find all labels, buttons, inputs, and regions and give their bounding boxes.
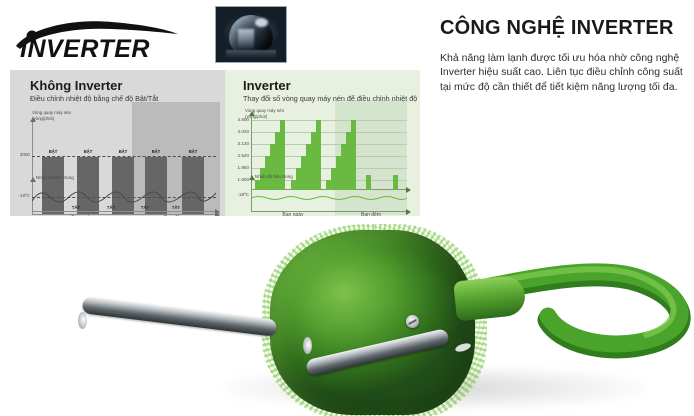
temp-x-axis-no-inverter — [32, 211, 216, 212]
temp-wave-inverter — [251, 188, 407, 210]
grass-plug-photo — [0, 216, 694, 416]
y-axis-label-no-inverter: Vòng quay máy nén (vòng/phút) — [32, 110, 102, 122]
temp-tick-inverter: -18ºC — [227, 192, 249, 197]
page-description: Khả năng làm lạnh được tối ưu hóa nhờ cô… — [440, 51, 690, 96]
temp-y-arrow-no-inverter — [30, 177, 36, 182]
chart-title-inverter: Inverter — [243, 78, 291, 93]
y-axis-arrow-inverter — [249, 111, 255, 116]
temp-y-arrow-inverter — [249, 175, 255, 180]
chart-title-no-inverter: Không Inverter — [30, 78, 122, 93]
temp-label-inverter: Nhiệt độ bên trong — [255, 174, 293, 180]
y-tick-3120: 3.120 — [227, 141, 249, 146]
gridline-4500 — [251, 120, 407, 121]
y-axis-label-inverter: Vòng quay máy nén (vòng/phút) — [245, 108, 315, 120]
plug-prong-upper-tip — [78, 312, 87, 329]
y-tick-3000: 3000 — [12, 152, 30, 157]
step-2-6 — [316, 120, 321, 190]
chart-panel-inverter: Inverter Thay đổi số vòng quay máy nén đ… — [225, 70, 420, 220]
temp-label-no-inverter: Nhiệt độ bên trong — [36, 175, 74, 181]
y-tick-2520: 2.520 — [227, 153, 249, 158]
plug-body — [270, 230, 475, 415]
chart-panel-no-inverter: Không Inverter Điều chỉnh nhiệt độ bằng … — [10, 70, 225, 220]
bar-label-on-3: BẬT — [112, 149, 134, 154]
bar-label-on-2: BẬT — [77, 149, 99, 154]
compressor-base — [226, 50, 276, 59]
step-3-6 — [351, 120, 356, 190]
y-tick-4500: 4.500 — [227, 117, 249, 122]
temp-wave-no-inverter — [32, 184, 216, 211]
compressor-motor-photo — [215, 6, 287, 63]
y-tick-4020: 4.020 — [227, 129, 249, 134]
y-tick-1980: 1.980 — [227, 165, 249, 170]
inverter-logo: INVERTER — [8, 16, 208, 62]
page-title: CÔNG NGHỆ INVERTER — [440, 17, 688, 40]
plug-prong-lower-tip — [303, 337, 312, 354]
compressor-highlight-top — [255, 18, 268, 27]
plug-screw — [406, 315, 419, 328]
bar-label-on-1: BẬT — [42, 149, 64, 154]
y-tick-1500: 1.500 — [227, 177, 249, 182]
temp-tick-no-inverter: -18ºC — [12, 193, 30, 198]
y-axis-arrow-no-inverter — [30, 117, 36, 122]
compressor-highlight-side — [238, 29, 254, 49]
bar-label-on-5: BẬT — [182, 149, 204, 154]
svg-text:INVERTER: INVERTER — [20, 35, 150, 62]
bar-label-on-4: BẬT — [145, 149, 167, 154]
